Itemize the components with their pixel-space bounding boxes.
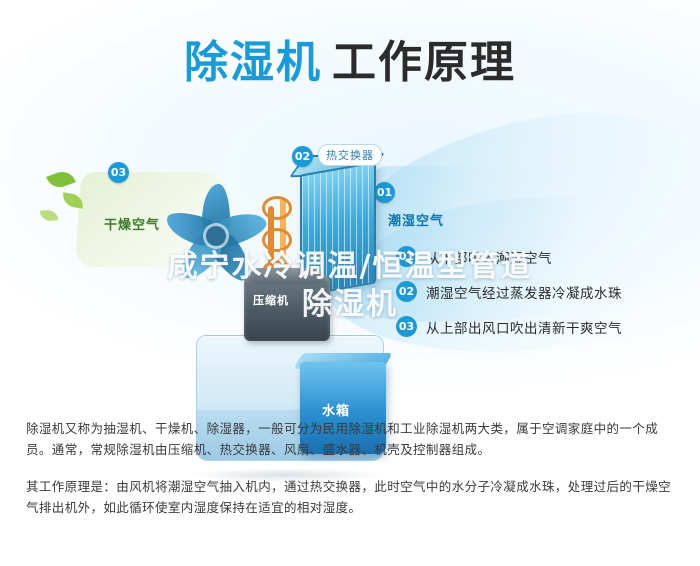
step-item: 03 从上部出风口吹出清新干爽空气 (396, 316, 688, 337)
fan-hub (206, 226, 226, 246)
step-item: 02 潮湿空气经过蒸发器冷凝成水珠 (396, 281, 688, 302)
step-list: 01 从下部吸入潮湿空气 02 潮湿空气经过蒸发器冷凝成水珠 03 从上部出风口… (396, 246, 688, 351)
step-text: 从下部吸入潮湿空气 (426, 247, 552, 267)
step-item: 01 从下部吸入潮湿空气 (396, 246, 688, 267)
step-number: 03 (396, 316, 417, 337)
page-title: 除湿机工作原理 (0, 26, 700, 90)
step-text: 潮湿空气经过蒸发器冷凝成水珠 (426, 282, 622, 302)
title-rest: 工作原理 (332, 37, 516, 88)
label-heat-exchanger: 热交换器 (318, 144, 382, 166)
title-highlight: 除湿机 (184, 37, 322, 88)
paragraph-definition: 除湿机又称为抽湿机、干燥机、除湿器，一般可分为民用除湿机和工业除湿机两大类，属于… (26, 418, 676, 460)
compressor-unit (244, 275, 330, 341)
infographic-page: 除湿机工作原理 03 干燥空气 01 潮湿空气 (0, 0, 700, 566)
paragraph-principle: 其工作原理是：由风机将潮湿空气抽入机内，通过热交换器，此时空气中的水分子冷凝成水… (26, 476, 676, 518)
badge-01: 01 (374, 182, 395, 203)
compressor-cap (250, 268, 324, 284)
description-block: 除湿机又称为抽湿机、干燥机、除湿器，一般可分为民用除湿机和工业除湿机两大类，属于… (26, 418, 676, 518)
step-number: 02 (396, 281, 417, 302)
leaf-icon (46, 168, 76, 191)
badge-02: 02 (292, 146, 313, 167)
leaf-icon (40, 209, 59, 222)
label-compressor: 压缩机 (253, 292, 289, 308)
label-water-tank: 水箱 (322, 400, 350, 419)
copper-coil (262, 228, 292, 252)
copper-coil (262, 196, 292, 220)
badge-03: 03 (108, 162, 129, 183)
label-dry-air: 干燥空气 (104, 214, 160, 233)
step-text: 从上部出风口吹出清新干爽空气 (426, 317, 622, 337)
label-humid-air: 潮湿空气 (388, 210, 444, 229)
step-number: 01 (396, 246, 417, 267)
